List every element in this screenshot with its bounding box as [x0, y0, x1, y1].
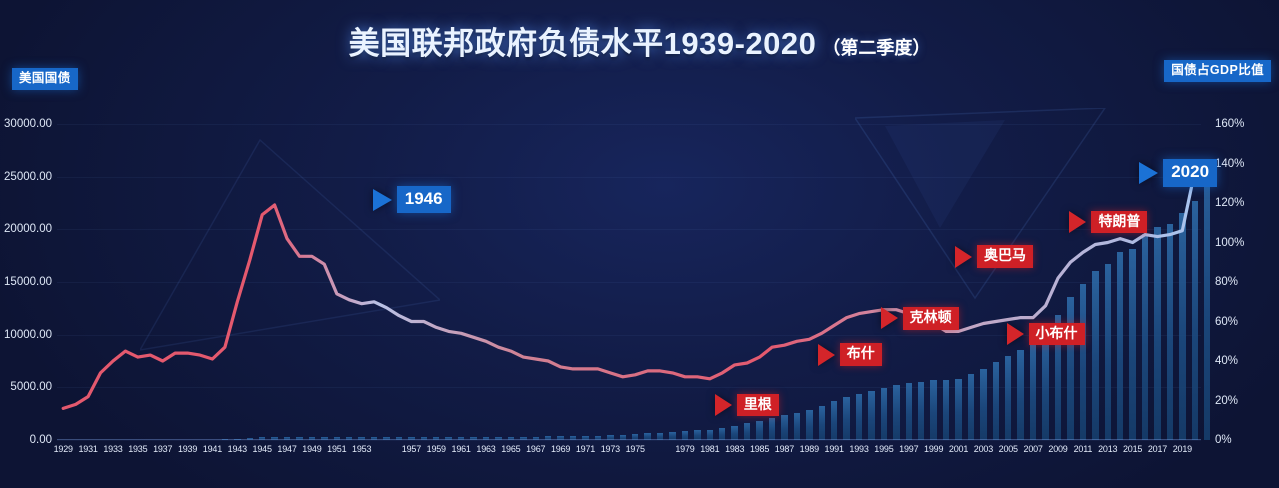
x-tick-1951: 1951 [327, 444, 346, 454]
x-tick-1989: 1989 [800, 444, 819, 454]
x-tick-1943: 1943 [228, 444, 247, 454]
x-tick-1935: 1935 [128, 444, 147, 454]
x-tick-2007: 2007 [1024, 444, 1043, 454]
annotation-label: 小布什 [1029, 323, 1085, 346]
right-axis-legend-chip: 国债占GDP比值 [1164, 60, 1271, 82]
x-tick-2017: 2017 [1148, 444, 1167, 454]
title-sub: （第二季度） [822, 38, 930, 58]
x-tick-2001: 2001 [949, 444, 968, 454]
x-tick-1975: 1975 [626, 444, 645, 454]
right-tick-120%: 120% [1215, 197, 1244, 209]
annotation-label: 1946 [397, 186, 451, 213]
right-tick-40%: 40% [1215, 355, 1238, 367]
x-tick-1931: 1931 [78, 444, 97, 454]
x-tick-2005: 2005 [999, 444, 1018, 454]
x-tick-1963: 1963 [476, 444, 495, 454]
annotation-label: 2020 [1163, 159, 1217, 186]
left-tick-15000.00: 15000.00 [4, 276, 52, 288]
x-tick-1971: 1971 [576, 444, 595, 454]
x-tick-1969: 1969 [551, 444, 570, 454]
x-tick-1985: 1985 [750, 444, 769, 454]
x-tick-1953: 1953 [352, 444, 371, 454]
x-tick-1967: 1967 [526, 444, 545, 454]
left-tick-25000.00: 25000.00 [4, 171, 52, 183]
x-tick-1973: 1973 [601, 444, 620, 454]
x-tick-2011: 2011 [1074, 444, 1093, 454]
arrow-marker-icon [1007, 323, 1024, 345]
x-tick-1949: 1949 [302, 444, 321, 454]
title-main: 美国联邦政府负债水平1939-2020 [349, 26, 817, 61]
annotation-label: 克林顿 [903, 307, 959, 330]
x-tick-1999: 1999 [924, 444, 943, 454]
left-axis-tick-labels: 0.005000.0010000.0015000.0020000.0025000… [0, 124, 52, 440]
x-tick-1933: 1933 [103, 444, 122, 454]
x-tick-2003: 2003 [974, 444, 993, 454]
right-tick-80%: 80% [1215, 276, 1238, 288]
line-series-debt-to-gdp [57, 124, 1201, 440]
left-tick-0.00: 0.00 [30, 434, 52, 446]
annotation-1946: 1946 [373, 189, 451, 211]
arrow-marker-icon [715, 394, 732, 416]
x-tick-1937: 1937 [153, 444, 172, 454]
x-tick-2019: 2019 [1173, 444, 1192, 454]
annotation-里根: 里根 [715, 394, 779, 416]
annotation-小布什: 小布什 [1007, 323, 1085, 345]
x-tick-1995: 1995 [874, 444, 893, 454]
left-tick-10000.00: 10000.00 [4, 329, 52, 341]
x-tick-2009: 2009 [1048, 444, 1067, 454]
x-tick-1959: 1959 [427, 444, 446, 454]
x-tick-1939: 1939 [178, 444, 197, 454]
annotation-特朗普: 特朗普 [1069, 211, 1147, 233]
gridline [57, 440, 1201, 441]
x-tick-1957: 1957 [402, 444, 421, 454]
x-tick-2015: 2015 [1123, 444, 1142, 454]
arrow-marker-icon [881, 307, 898, 329]
x-tick-1961: 1961 [452, 444, 471, 454]
x-axis-tick-labels: 1929193119331935193719391941194319451947… [57, 444, 1201, 460]
annotation-奥巴马: 奥巴马 [955, 246, 1033, 268]
left-tick-20000.00: 20000.00 [4, 223, 52, 235]
x-tick-1945: 1945 [253, 444, 272, 454]
annotation-克林顿: 克林顿 [881, 307, 959, 329]
right-tick-60%: 60% [1215, 316, 1238, 328]
right-tick-0%: 0% [1215, 434, 1232, 446]
right-tick-160%: 160% [1215, 118, 1244, 130]
right-tick-100%: 100% [1215, 237, 1244, 249]
x-tick-1965: 1965 [501, 444, 520, 454]
left-tick-5000.00: 5000.00 [10, 381, 52, 393]
x-tick-1941: 1941 [203, 444, 222, 454]
arrow-marker-icon [1139, 162, 1158, 184]
annotation-label: 布什 [840, 343, 882, 366]
x-tick-1981: 1981 [700, 444, 719, 454]
x-tick-1929: 1929 [54, 444, 73, 454]
page-title: 美国联邦政府负债水平1939-2020（第二季度） [0, 18, 1279, 63]
left-axis-legend-chip: 美国国债 [12, 68, 78, 90]
annotation-label: 奥巴马 [977, 245, 1033, 268]
annotation-label: 里根 [737, 394, 779, 417]
annotation-2020: 2020 [1139, 162, 1217, 184]
left-tick-30000.00: 30000.00 [4, 118, 52, 130]
chart-root: 美国联邦政府负债水平1939-2020（第二季度） 美国国债 国债占GDP比值 … [0, 0, 1279, 488]
x-tick-1993: 1993 [849, 444, 868, 454]
annotation-label: 特朗普 [1091, 211, 1147, 234]
x-axis-baseline [57, 439, 1201, 440]
x-tick-1991: 1991 [825, 444, 844, 454]
arrow-marker-icon [373, 189, 392, 211]
x-tick-1987: 1987 [775, 444, 794, 454]
plot-area: 1946里根布什克林顿奥巴马小布什特朗普2020 [57, 124, 1201, 440]
x-tick-1983: 1983 [725, 444, 744, 454]
arrow-marker-icon [1069, 211, 1086, 233]
bar [1204, 161, 1210, 440]
annotation-布什: 布什 [818, 344, 882, 366]
x-tick-2013: 2013 [1098, 444, 1117, 454]
right-tick-140%: 140% [1215, 158, 1244, 170]
right-tick-20%: 20% [1215, 395, 1238, 407]
x-tick-1979: 1979 [675, 444, 694, 454]
x-tick-1947: 1947 [277, 444, 296, 454]
arrow-marker-icon [818, 344, 835, 366]
x-tick-1997: 1997 [899, 444, 918, 454]
arrow-marker-icon [955, 246, 972, 268]
